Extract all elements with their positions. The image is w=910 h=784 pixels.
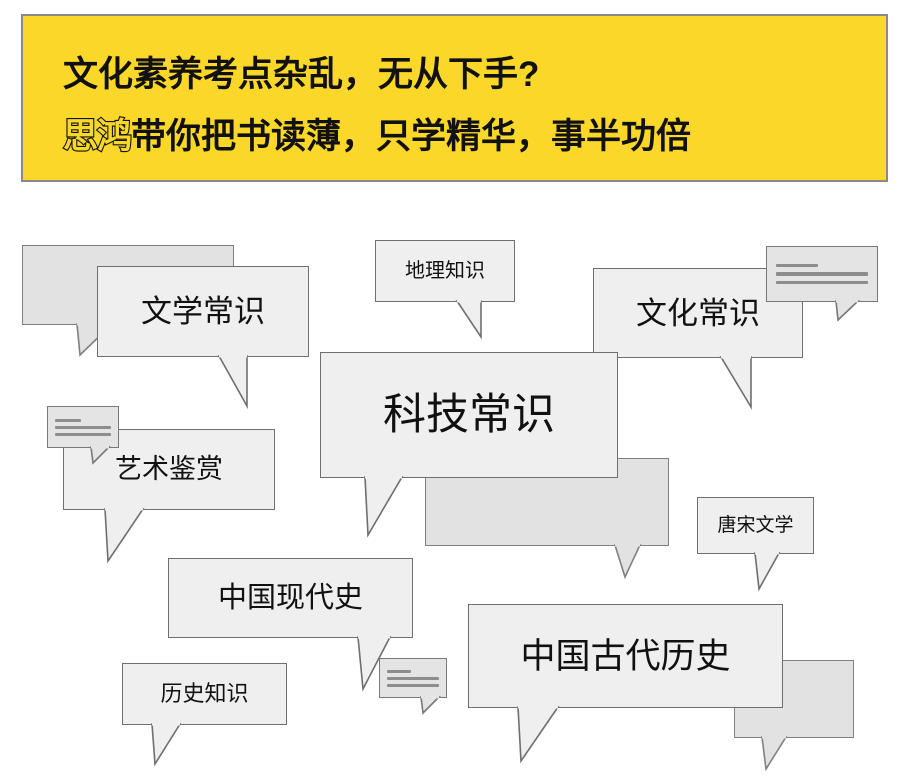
headline-line-2-rest: 带你把书读薄，只学精华，事半功倍 bbox=[131, 117, 691, 156]
mini-line-1 bbox=[387, 670, 411, 673]
bubble-zhongguo-gudai-lishi-label: 中国古代历史 bbox=[520, 639, 730, 674]
bubble-dili-zhishi-tail bbox=[375, 299, 525, 345]
mini-line-2 bbox=[776, 272, 868, 276]
mini-line-2 bbox=[55, 426, 111, 429]
mini-line-1 bbox=[55, 419, 81, 422]
bubble-dili-zhishi-label: 地理知识 bbox=[405, 261, 485, 281]
mini-lines-bubble-left bbox=[47, 406, 119, 448]
bubble-zhongguo-xiandaishi[interactable]: 中国现代史 bbox=[168, 558, 413, 638]
headline-line-1: 文化素养考点杂乱，无从下手? bbox=[63, 46, 539, 97]
bubble-wenhua-changshi-label: 文化常识 bbox=[636, 298, 760, 329]
mini-line-3 bbox=[776, 281, 868, 285]
bubble-keji-changshi-tail bbox=[320, 475, 620, 545]
bubble-zhongguo-gudai-lishi-tail bbox=[468, 705, 788, 769]
mini-lines-bubble-left-tail bbox=[47, 446, 127, 468]
bubble-yishu-jianshang-label: 艺术鉴赏 bbox=[115, 456, 223, 483]
mini-lines-bubble-top-right bbox=[766, 246, 878, 302]
decorative-gray-bubble-center-tail bbox=[425, 543, 665, 585]
mini-line-3 bbox=[55, 433, 111, 436]
bubble-dili-zhishi[interactable]: 地理知识 bbox=[375, 240, 515, 302]
headline-line-2: 思鸿带你把书读薄，只学精华，事半功倍 bbox=[63, 108, 691, 159]
mini-line-1 bbox=[776, 264, 818, 268]
bubble-keji-changshi[interactable]: 科技常识 bbox=[320, 352, 618, 478]
bubble-lishi-zhishi-label: 历史知识 bbox=[160, 683, 248, 705]
bubble-tangsong-wenxue-tail bbox=[697, 551, 827, 597]
bubble-wenhua-changshi-tail bbox=[593, 355, 813, 415]
bubble-zhongguo-gudai-lishi[interactable]: 中国古代历史 bbox=[468, 604, 783, 708]
brand-logo-text: 思鸿 bbox=[63, 117, 131, 156]
bubble-lishi-zhishi-tail bbox=[122, 722, 292, 770]
mini-line-3 bbox=[387, 684, 439, 687]
poster-canvas: 文化素养考点杂乱，无从下手? 思鸿带你把书读薄，只学精华，事半功倍 文学常识 地… bbox=[0, 0, 910, 784]
bubble-keji-changshi-label: 科技常识 bbox=[383, 394, 555, 437]
mini-line-2 bbox=[387, 677, 439, 680]
bubble-wenxue-changshi-label: 文学常识 bbox=[141, 296, 265, 327]
mini-lines-bubble-bottom-center-tail bbox=[379, 696, 455, 718]
bubble-tangsong-wenxue-label: 唐宋文学 bbox=[717, 516, 793, 535]
bubble-tangsong-wenxue[interactable]: 唐宋文学 bbox=[697, 497, 814, 554]
bubble-wenxue-changshi-tail bbox=[97, 354, 317, 414]
headline-banner: 文化素养考点杂乱，无从下手? 思鸿带你把书读薄，只学精华，事半功倍 bbox=[21, 14, 888, 182]
bubble-wenxue-changshi[interactable]: 文学常识 bbox=[97, 266, 309, 357]
mini-lines-bubble-top-right-tail bbox=[766, 300, 886, 326]
bubble-lishi-zhishi[interactable]: 历史知识 bbox=[122, 663, 287, 725]
mini-lines-bubble-bottom-center bbox=[379, 658, 447, 698]
bubble-zhongguo-xiandaishi-label: 中国现代史 bbox=[218, 584, 363, 613]
